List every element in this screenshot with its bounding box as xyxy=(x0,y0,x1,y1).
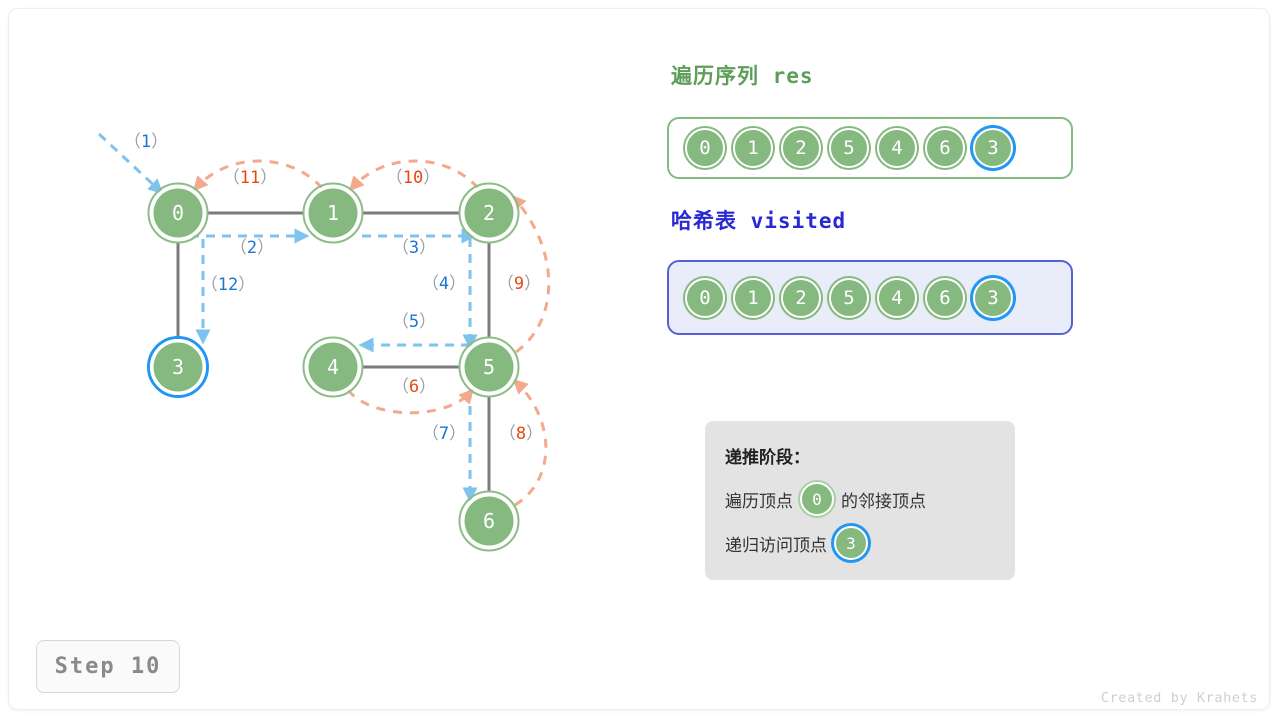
step-badge: Step 10 xyxy=(36,640,180,693)
res-value: 0 xyxy=(685,128,725,168)
phase-line-2-prefix: 递归访问顶点 xyxy=(725,531,827,556)
phase-line-2: 递归访问顶点 3 xyxy=(725,526,1015,560)
visited-cell: 6 xyxy=(921,274,969,322)
step-label-8: （8） xyxy=(499,424,543,444)
phase-title: 递推阶段： xyxy=(725,443,1015,468)
visited-cell: 0 xyxy=(681,274,729,322)
res-value: 3 xyxy=(973,128,1013,168)
node-label: 2 xyxy=(483,201,495,225)
visited-title: 哈希表 visited xyxy=(671,205,846,235)
step-label-2: （2） xyxy=(230,238,274,258)
node-label: 6 xyxy=(483,509,495,533)
step-label-3: （3） xyxy=(392,238,436,258)
node-label: 3 xyxy=(172,355,184,379)
node-label: 0 xyxy=(172,201,184,225)
step-label-5: （5） xyxy=(392,312,436,332)
phase-line-1-suffix: 的邻接顶点 xyxy=(841,487,926,512)
phase-line-1-node: 0 xyxy=(800,482,834,516)
step-label-1: （1） xyxy=(124,132,168,152)
res-value: 2 xyxy=(781,128,821,168)
graph-diagram: 0123456 （1）（2）（3）（4）（5）（6）（7）（8）（9）（10）（… xyxy=(0,0,1280,720)
visited-value: 4 xyxy=(877,278,917,318)
step-label-11: （11） xyxy=(223,168,277,188)
visited-cell: 5 xyxy=(825,274,873,322)
step-label-9: （9） xyxy=(497,274,541,294)
res-cell: 5 xyxy=(825,124,873,172)
phase-line-1: 遍历顶点 0 的邻接顶点 xyxy=(725,482,1015,516)
visited-value: 6 xyxy=(925,278,965,318)
res-cell: 4 xyxy=(873,124,921,172)
visited-array: 0125463 xyxy=(667,260,1073,335)
res-value: 5 xyxy=(829,128,869,168)
graph-node-5[interactable]: 5 xyxy=(460,338,519,397)
res-array: 0125463 xyxy=(667,117,1073,179)
graph-node-3[interactable]: 3 xyxy=(149,338,208,397)
visited-value: 2 xyxy=(781,278,821,318)
credit-label: Created by Krahets xyxy=(1101,690,1258,706)
step-label-10: （10） xyxy=(386,168,440,188)
step-label-6: （6） xyxy=(392,377,436,397)
visited-value: 0 xyxy=(685,278,725,318)
node-label: 4 xyxy=(327,355,339,379)
visited-value: 5 xyxy=(829,278,869,318)
step-label-12: （12） xyxy=(201,275,255,295)
graph-node-2[interactable]: 2 xyxy=(460,184,519,243)
graph-node-0[interactable]: 0 xyxy=(149,184,208,243)
step-label-7: （7） xyxy=(422,424,466,444)
res-value: 4 xyxy=(877,128,917,168)
graph-node-4[interactable]: 4 xyxy=(304,338,363,397)
visited-cell: 3 xyxy=(969,274,1017,322)
step-label-4: （4） xyxy=(422,274,466,294)
res-cell: 6 xyxy=(921,124,969,172)
phase-line-1-prefix: 遍历顶点 xyxy=(725,487,793,512)
node-label: 5 xyxy=(483,355,495,379)
res-cell: 2 xyxy=(777,124,825,172)
graph-nodes: 0123456 xyxy=(149,184,519,551)
visited-value: 3 xyxy=(973,278,1013,318)
res-cell: 0 xyxy=(681,124,729,172)
visited-cell: 1 xyxy=(729,274,777,322)
phase-line-2-node: 3 xyxy=(834,526,868,560)
visited-cell: 2 xyxy=(777,274,825,322)
res-title: 遍历序列 res xyxy=(671,60,814,90)
res-cell: 1 xyxy=(729,124,777,172)
phase-info-box: 递推阶段： 遍历顶点 0 的邻接顶点 递归访问顶点 3 xyxy=(705,421,1015,580)
visited-cell: 4 xyxy=(873,274,921,322)
res-value: 1 xyxy=(733,128,773,168)
visited-value: 1 xyxy=(733,278,773,318)
node-label: 1 xyxy=(327,201,339,225)
graph-node-6[interactable]: 6 xyxy=(460,492,519,551)
res-value: 6 xyxy=(925,128,965,168)
res-cell: 3 xyxy=(969,124,1017,172)
graph-node-1[interactable]: 1 xyxy=(304,184,363,243)
